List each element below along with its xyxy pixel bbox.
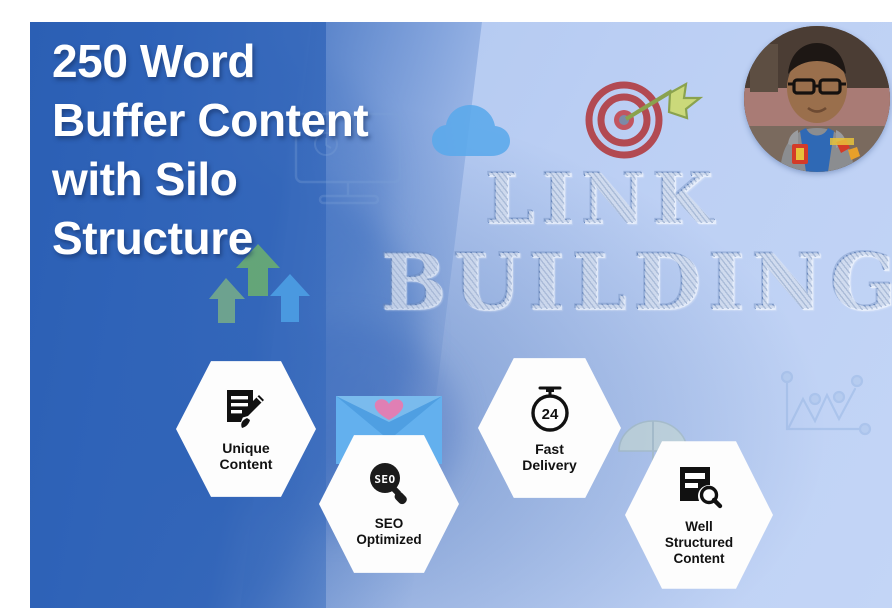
document-pencil-icon — [223, 387, 269, 433]
headline-line-3: with Silo — [52, 150, 532, 209]
feature-hex-fast-delivery[interactable]: 24 Fast Delivery — [478, 356, 621, 500]
stopwatch-24-icon: 24 — [526, 384, 574, 434]
book-search-icon — [675, 464, 723, 512]
headline-line-4: Structure — [52, 209, 532, 268]
svg-text:SEO: SEO — [374, 473, 395, 486]
badge-24: 24 — [541, 406, 558, 423]
feature-label: Unique Content — [220, 440, 273, 472]
headline-line-2: Buffer Content — [52, 91, 532, 150]
feature-label: Fast Delivery — [522, 441, 576, 473]
avatar — [744, 26, 890, 172]
chart-doodle — [775, 367, 887, 445]
feature-label: Well Structured Content — [665, 519, 733, 567]
seo-magnifier-icon: SEO — [365, 461, 413, 509]
feature-label: SEO Optimized — [356, 516, 421, 548]
profile-photo — [744, 26, 890, 172]
artwork-canvas: LINK BUILDING 250 Word Buffer Content wi… — [30, 22, 892, 608]
headline-line-1: 250 Word — [52, 32, 532, 91]
page-title: 250 Word Buffer Content with Silo Struct… — [52, 32, 532, 268]
banner-image: LINK BUILDING 250 Word Buffer Content wi… — [0, 0, 892, 608]
feature-hex-well-structured-content[interactable]: Well Structured Content — [625, 439, 773, 591]
target-doodle — [574, 70, 722, 166]
